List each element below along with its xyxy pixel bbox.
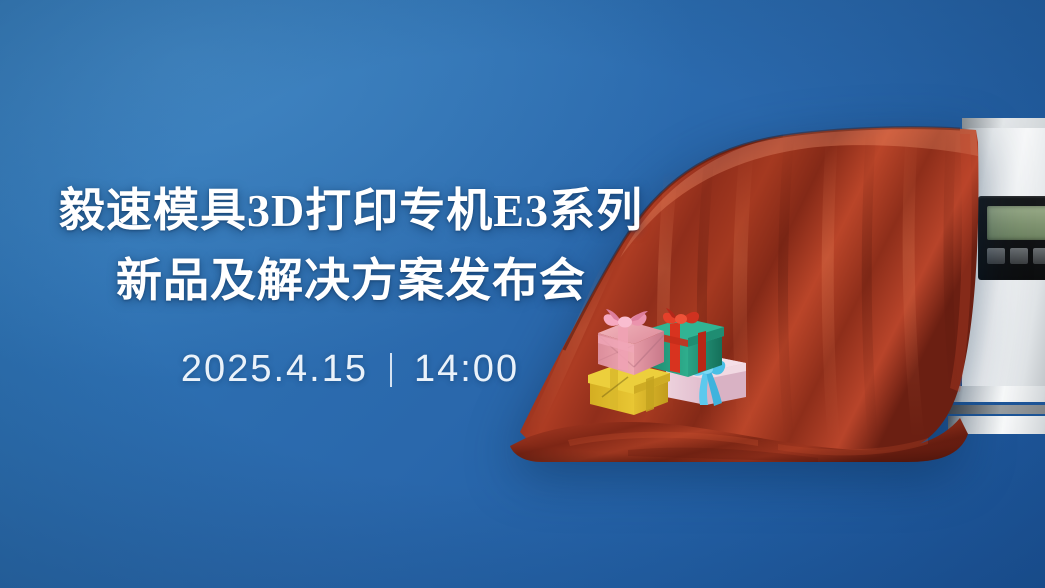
headline-line-1: 毅速模具3D打印专机E3系列 — [2, 176, 700, 246]
event-poster: 毅速模具3D打印专机E3系列 新品及解决方案发布会 2025.4.15 14:0… — [0, 0, 1045, 588]
event-datetime: 2025.4.15 14:00 — [0, 348, 700, 391]
headline-line-2: 新品及解决方案发布会 — [2, 246, 700, 316]
event-date: 2025.4.15 — [181, 348, 368, 391]
page-title: 毅速模具3D打印专机E3系列 新品及解决方案发布会 — [0, 176, 700, 316]
event-time: 14:00 — [414, 348, 519, 391]
datetime-separator — [390, 353, 392, 387]
